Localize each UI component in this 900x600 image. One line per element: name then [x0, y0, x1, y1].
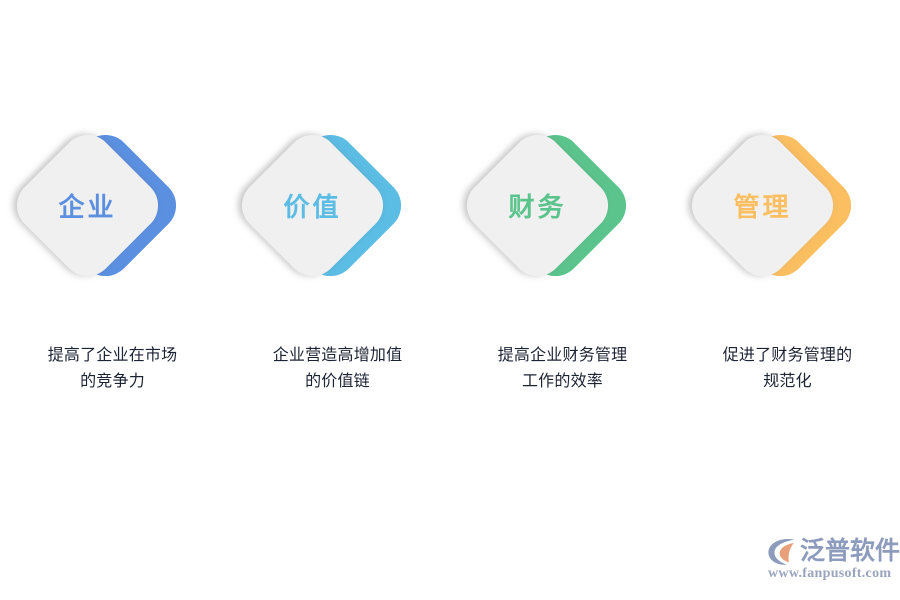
brand-url: www.fanpusoft.com	[768, 566, 891, 582]
diamond-graphic: 管理	[675, 131, 900, 316]
diamond-front-shape	[456, 124, 619, 287]
feature-caption: 提高了企业在市场 的竞争力	[0, 343, 225, 395]
feature-caption: 企业营造高增加值 的价值链	[225, 343, 450, 395]
diamond-front-shape	[6, 124, 169, 287]
fanpu-logo-icon	[766, 536, 798, 566]
caption-line-2: 工作的效率	[450, 369, 675, 395]
feature-card[interactable]: 财务 提高企业财务管理 工作的效率	[450, 131, 675, 421]
feature-card[interactable]: 价值 企业营造高增加值 的价值链	[225, 131, 450, 421]
diamond-front-shape	[231, 124, 394, 287]
diamond-graphic: 企业	[0, 131, 225, 316]
caption-line-2: 规范化	[675, 369, 900, 395]
caption-line-2: 的竞争力	[0, 369, 225, 395]
caption-line-1: 提高了企业在市场	[0, 343, 225, 369]
caption-line-2: 的价值链	[225, 369, 450, 395]
feature-card[interactable]: 管理 促进了财务管理的 规范化	[675, 131, 900, 421]
page-canvas: 企业 提高了企业在市场 的竞争力 价值 企业营造高增加值 的价值链	[0, 0, 900, 600]
diamond-graphic: 价值	[225, 131, 450, 316]
diamond-graphic: 财务	[450, 131, 675, 316]
caption-line-1: 促进了财务管理的	[675, 343, 900, 369]
diamond-front-shape	[681, 124, 844, 287]
brand-name: 泛普软件	[800, 537, 900, 565]
feature-card[interactable]: 企业 提高了企业在市场 的竞争力	[0, 131, 225, 421]
caption-line-1: 企业营造高增加值	[225, 343, 450, 369]
brand-watermark: 泛普软件 www.fanpusoft.com	[766, 535, 894, 587]
feature-card-row: 企业 提高了企业在市场 的竞争力 价值 企业营造高增加值 的价值链	[0, 131, 900, 421]
caption-line-1: 提高企业财务管理	[450, 343, 675, 369]
feature-caption: 提高企业财务管理 工作的效率	[450, 343, 675, 395]
brand-logo-row: 泛普软件	[766, 535, 900, 567]
feature-caption: 促进了财务管理的 规范化	[675, 343, 900, 395]
